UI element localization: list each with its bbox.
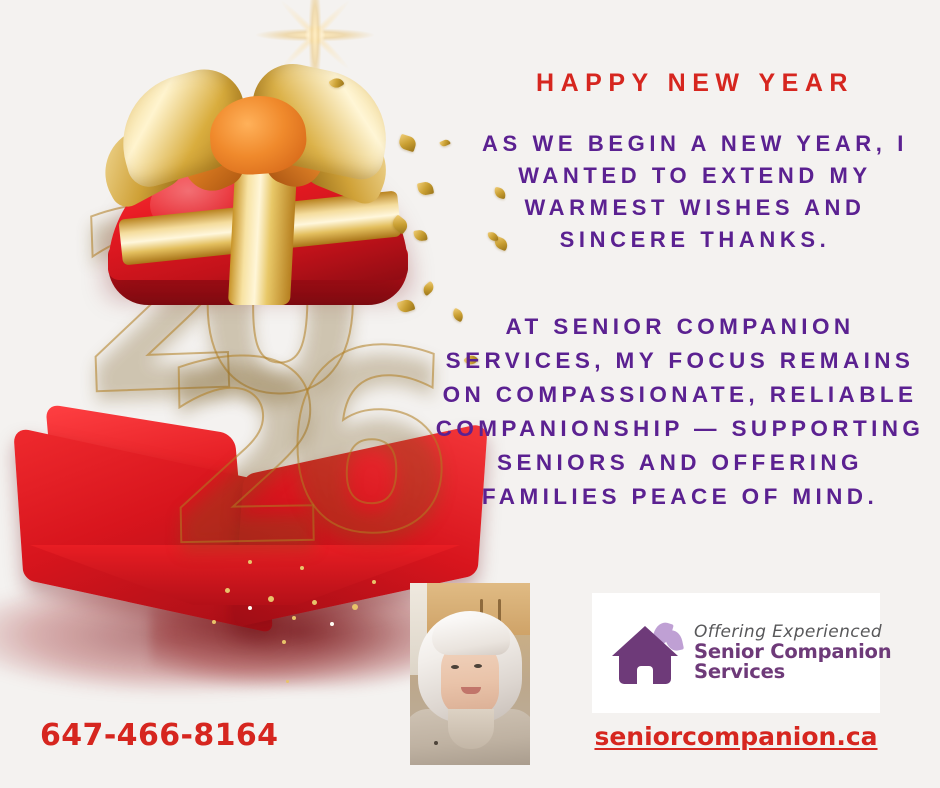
- sparkle-dot: [248, 606, 252, 610]
- logo-wordmark: Offering Experienced Senior Companion Se…: [694, 624, 891, 682]
- photo-coat-button: [434, 741, 438, 745]
- logo-tagline: Offering Experienced: [694, 624, 891, 642]
- new-year-greeting-card: 2 0 2 6: [0, 0, 940, 788]
- sparkle-dot: [225, 588, 230, 593]
- sparkle-dot: [330, 622, 334, 626]
- logo-name-line1: Senior Companion: [694, 642, 891, 662]
- sparkle-dot: [312, 600, 317, 605]
- house-roof-icon: [612, 626, 678, 656]
- photo-collar: [448, 709, 494, 749]
- sparkle-dot: [372, 580, 376, 584]
- sparkle-dot: [300, 566, 304, 570]
- house-leaf-icon: [608, 622, 682, 684]
- balloon-digit-6: 6: [278, 315, 456, 571]
- sparkle-dot: [248, 560, 252, 564]
- logo-name-line2: Services: [694, 662, 891, 682]
- company-logo[interactable]: Offering Experienced Senior Companion Se…: [592, 593, 880, 713]
- sparkle-dot: [282, 640, 286, 644]
- portrait-photo: [410, 583, 530, 765]
- house-door-icon: [637, 666, 653, 684]
- page-title: HAPPY NEW YEAR: [470, 68, 920, 98]
- greeting-paragraph-2: AT SENIOR COMPANION SERVICES, MY FOCUS R…: [430, 310, 930, 514]
- greeting-paragraph-1: AS WE BEGIN A NEW YEAR, I WANTED TO EXTE…: [470, 128, 920, 256]
- website-link[interactable]: seniorcompanion.ca: [592, 722, 880, 751]
- photo-fringe: [432, 617, 510, 655]
- sparkle-dot: [292, 616, 296, 620]
- phone-number[interactable]: 647-466-8164: [40, 718, 278, 753]
- photo-eye-right: [474, 664, 482, 668]
- photo-eye-left: [451, 665, 459, 669]
- sparkle-dot: [268, 596, 274, 602]
- sparkle-dot: [286, 680, 289, 683]
- sparkle-dot: [352, 604, 358, 610]
- sparkle-dot: [212, 620, 216, 624]
